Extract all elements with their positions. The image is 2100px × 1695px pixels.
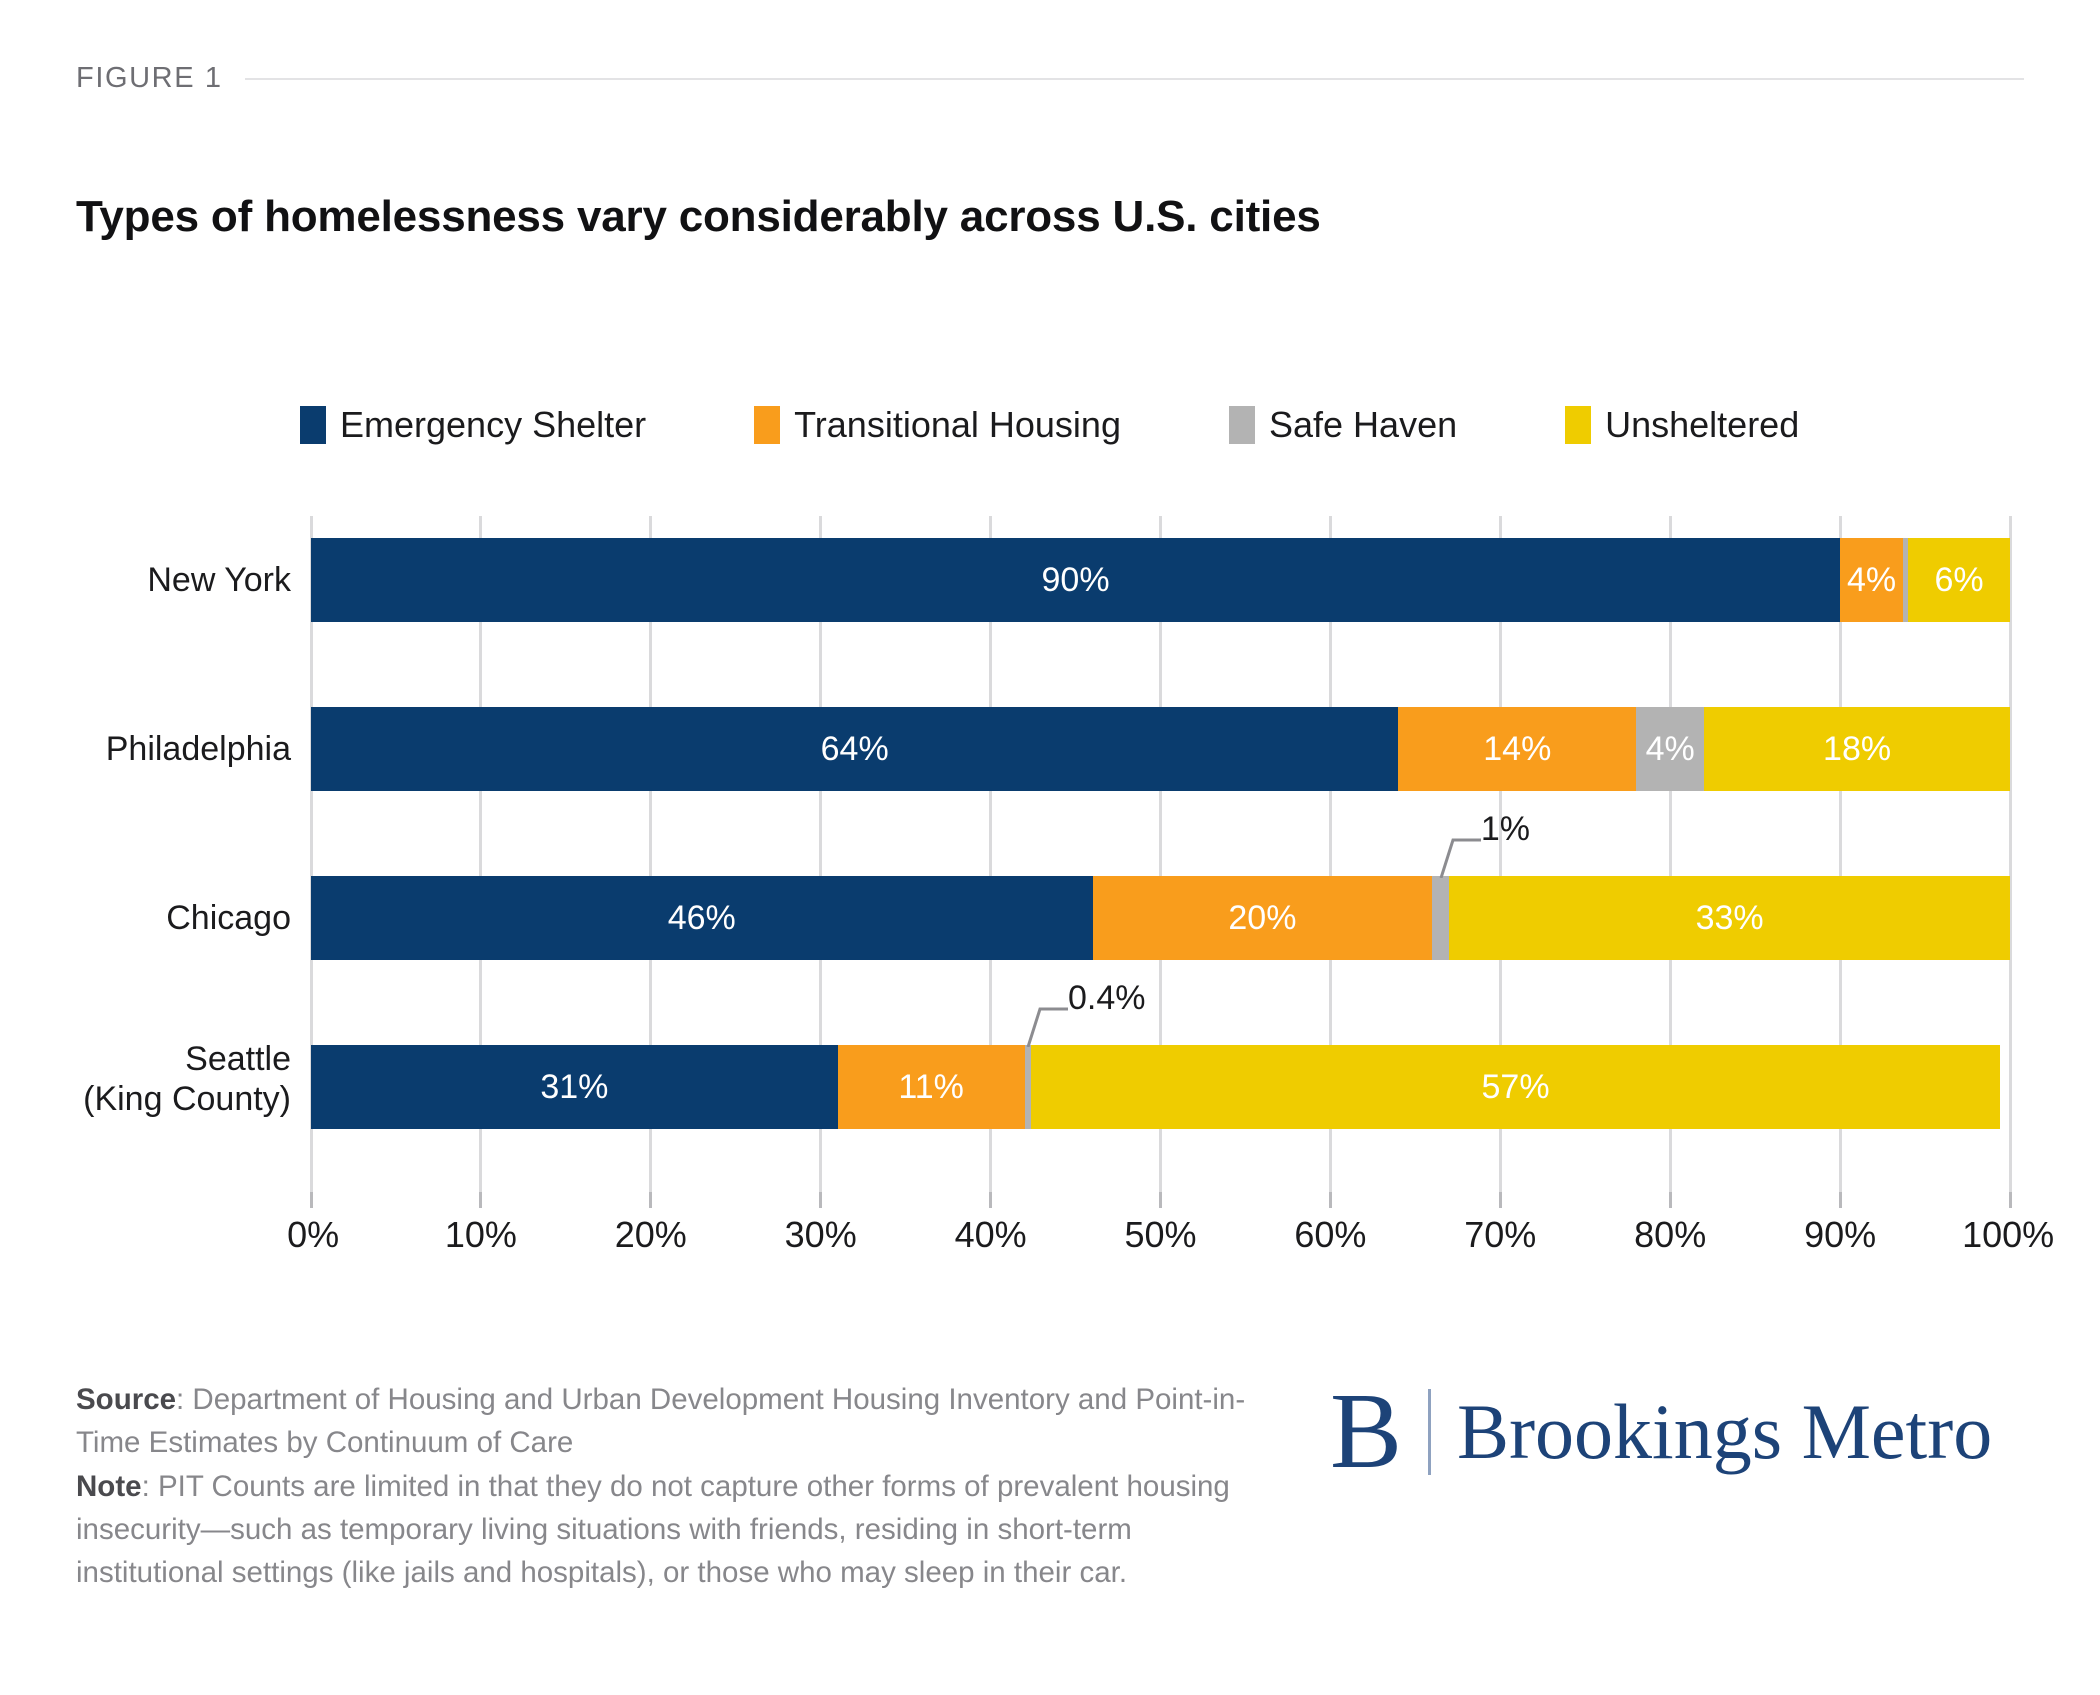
bar-segment[interactable]: 4% [1636, 707, 1704, 791]
bar-segment-label: 33% [1696, 899, 1764, 938]
bar-segment[interactable]: 11% [838, 1045, 1025, 1129]
note-text: : PIT Counts are limited in that they do… [76, 1470, 1230, 1590]
bar-segment[interactable]: 33% [1449, 876, 2010, 960]
x-axis-tick [310, 1192, 313, 1208]
x-axis-tick [1159, 1192, 1162, 1208]
bar-row[interactable]: Philadelphia64%14%4%18% [311, 707, 2010, 791]
segment-callout-leader-line [1024, 995, 1074, 1047]
bar-segment[interactable] [1025, 1045, 1032, 1129]
bar-segment[interactable]: 64% [311, 707, 1398, 791]
bar-segment[interactable]: 14% [1398, 707, 1636, 791]
bar-segment[interactable] [1432, 876, 1449, 960]
brookings-metro-logo: B Brookings Metro [1330, 1378, 1992, 1486]
x-axis-tick [2009, 1192, 2012, 1208]
legend-item[interactable]: Safe Haven [1229, 404, 1457, 446]
logo-divider [1428, 1389, 1431, 1475]
bar-segment-label: 11% [898, 1068, 964, 1107]
x-axis-tick-label: 80% [1634, 1214, 1706, 1256]
note-line: Note: PIT Counts are limited in that the… [76, 1465, 1256, 1595]
legend-item[interactable]: Transitional Housing [754, 404, 1121, 446]
bar-segment[interactable]: 90% [311, 538, 1840, 622]
x-axis-tick-label: 50% [1124, 1214, 1196, 1256]
x-axis-tick-label: 100% [1962, 1214, 2054, 1256]
x-axis-tick [479, 1192, 482, 1208]
x-axis-tick-label: 70% [1464, 1214, 1536, 1256]
legend-swatch-icon [754, 406, 780, 444]
bar-segment-label: 4% [1847, 561, 1896, 600]
bar-segment-label: 31% [540, 1068, 608, 1107]
figure-label: FIGURE 1 [76, 62, 223, 95]
x-axis-tick [1669, 1192, 1672, 1208]
bar-segment-label: 14% [1483, 730, 1551, 769]
bar-segment[interactable]: 46% [311, 876, 1093, 960]
bar-row-label-line1: New York [147, 561, 291, 599]
bar-row-label: Philadelphia [0, 707, 311, 791]
bar-segment-label: 46% [668, 899, 736, 938]
x-axis-tick-label: 30% [785, 1214, 857, 1256]
figure-header-rule [245, 78, 2024, 80]
chart-legend: Emergency ShelterTransitional HousingSaf… [300, 404, 2020, 446]
bar-segment[interactable]: 20% [1093, 876, 1433, 960]
bar-segment-label: 4% [1646, 730, 1695, 769]
brookings-monogram-icon: B [1330, 1378, 1402, 1486]
x-axis: 0%10%20%30%40%50%60%70%80%90%100% [311, 1192, 2010, 1262]
legend-item[interactable]: Unsheltered [1565, 404, 1799, 446]
source-line: Source: Department of Housing and Urban … [76, 1378, 1256, 1465]
bar-row-label-line1: Philadelphia [106, 730, 291, 768]
figure-footer: Source: Department of Housing and Urban … [76, 1378, 1256, 1595]
segment-callout-label: 0.4% [1068, 979, 1146, 1018]
x-axis-tick [819, 1192, 822, 1208]
segment-callout-label: 1% [1481, 810, 1530, 849]
bar-segment-label: 20% [1228, 899, 1296, 938]
legend-item-label: Unsheltered [1605, 404, 1799, 446]
x-axis-tick [649, 1192, 652, 1208]
x-axis-tick [1329, 1192, 1332, 1208]
legend-swatch-icon [1229, 406, 1255, 444]
note-label: Note [76, 1470, 142, 1503]
bar-row-label: New York [0, 538, 311, 622]
bar-row-label-line1: Chicago [166, 899, 291, 937]
x-axis-tick-label: 10% [445, 1214, 517, 1256]
bar-segment[interactable]: 4% [1840, 538, 1903, 622]
x-axis-tick-label: 90% [1804, 1214, 1876, 1256]
legend-swatch-icon [1565, 406, 1591, 444]
source-text: : Department of Housing and Urban Develo… [76, 1383, 1245, 1459]
x-axis-tick-label: 60% [1294, 1214, 1366, 1256]
bar-segment-label: 90% [1042, 561, 1110, 600]
legend-item[interactable]: Emergency Shelter [300, 404, 646, 446]
bar-segment[interactable]: 18% [1704, 707, 2010, 791]
bar-row[interactable]: New York90%4%6% [311, 538, 2010, 622]
bar-segment[interactable]: 6% [1908, 538, 2010, 622]
x-axis-tick-label: 40% [955, 1214, 1027, 1256]
bar-segment-label: 6% [1934, 561, 1983, 600]
bar-row[interactable]: Chicago46%20%33% [311, 876, 2010, 960]
bar-segment-label: 64% [821, 730, 889, 769]
bar-segment[interactable]: 31% [311, 1045, 838, 1129]
bar-row[interactable]: Seattle(King County)31%11%57% [311, 1045, 2010, 1129]
x-axis-tick [989, 1192, 992, 1208]
x-axis-tick [1839, 1192, 1842, 1208]
bar-row-label: Seattle(King County) [0, 1039, 311, 1119]
x-axis-tick-label: 0% [287, 1214, 339, 1256]
figure-header: FIGURE 1 [76, 62, 2024, 95]
bar-segment[interactable]: 57% [1031, 1045, 1999, 1129]
legend-swatch-icon [300, 406, 326, 444]
brookings-wordmark: Brookings Metro [1457, 1393, 1992, 1471]
x-axis-tick [1499, 1192, 1502, 1208]
bar-rows: New York90%4%6%Philadelphia64%14%4%18%Ch… [311, 516, 2010, 1192]
bar-segment-label: 18% [1823, 730, 1891, 769]
bar-row-label-line1: Seattle [185, 1040, 291, 1078]
bar-row-label-line2: (King County) [0, 1079, 291, 1119]
bar-segment-label: 57% [1482, 1068, 1550, 1107]
bar-row-label: Chicago [0, 876, 311, 960]
segment-callout-leader-line [1437, 826, 1487, 878]
chart-title: Types of homelessness vary considerably … [76, 192, 1321, 242]
source-label: Source [76, 1383, 176, 1416]
plot-area: New York90%4%6%Philadelphia64%14%4%18%Ch… [311, 516, 2010, 1192]
legend-item-label: Safe Haven [1269, 404, 1457, 446]
x-axis-tick-label: 20% [615, 1214, 687, 1256]
legend-item-label: Transitional Housing [794, 404, 1121, 446]
legend-item-label: Emergency Shelter [340, 404, 646, 446]
